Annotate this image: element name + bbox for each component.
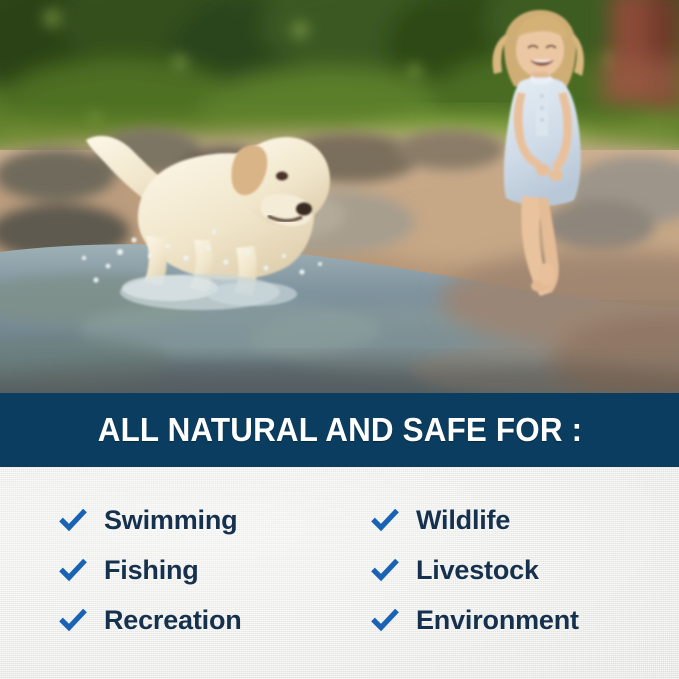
benefit-label: Fishing xyxy=(104,555,199,586)
product-feature-card: ALL NATURAL AND SAFE FOR : Swimming W xyxy=(0,0,679,679)
headline-banner: ALL NATURAL AND SAFE FOR : xyxy=(0,393,679,467)
check-icon xyxy=(370,505,400,535)
list-item: Recreation xyxy=(0,595,350,645)
check-icon xyxy=(370,555,400,585)
background-structure xyxy=(600,0,679,110)
list-item: Wildlife xyxy=(350,495,679,545)
benefit-label: Livestock xyxy=(416,555,539,586)
list-item: Livestock xyxy=(350,545,679,595)
photo-illustration xyxy=(0,0,679,393)
benefit-label: Wildlife xyxy=(416,505,510,536)
check-icon xyxy=(58,605,88,635)
list-item: Environment xyxy=(350,595,679,645)
check-icon xyxy=(58,555,88,585)
banner-title: ALL NATURAL AND SAFE FOR : xyxy=(97,411,581,449)
check-icon xyxy=(370,605,400,635)
benefit-label: Recreation xyxy=(104,605,242,636)
benefits-list: Swimming Wildlife Fishing xyxy=(0,467,679,679)
benefit-label: Environment xyxy=(416,605,579,636)
lifestyle-photo xyxy=(0,0,679,393)
benefits-panel: Swimming Wildlife Fishing xyxy=(0,467,679,679)
list-item: Swimming xyxy=(0,495,350,545)
check-icon xyxy=(58,505,88,535)
benefit-label: Swimming xyxy=(104,505,237,536)
list-item: Fishing xyxy=(0,545,350,595)
